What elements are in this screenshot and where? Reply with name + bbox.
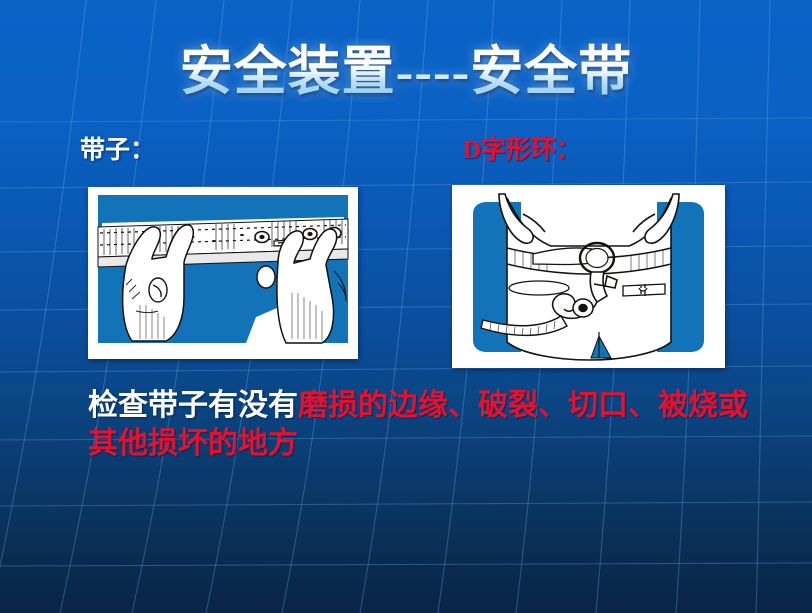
column-label-dring: D字形环： xyxy=(463,136,581,166)
slide-title: 安全装置----安全带 xyxy=(0,41,812,103)
d-ring-belt-illustration xyxy=(452,185,725,368)
column-label-strap: 带子： xyxy=(80,136,155,166)
caption-line1-red: 磨损的边缘、破裂、切口、被 xyxy=(298,389,688,422)
caption-line1-white: 检查带子有没有 xyxy=(88,389,298,422)
slide-caption: 检查带子有没有磨损的边缘、破裂、切口、被烧或其他损坏的地方 xyxy=(88,387,768,463)
harness-webbing-inspection-illustration xyxy=(88,187,358,359)
slide-canvas: 安全装置----安全带 带子： D字形环： xyxy=(0,0,812,613)
